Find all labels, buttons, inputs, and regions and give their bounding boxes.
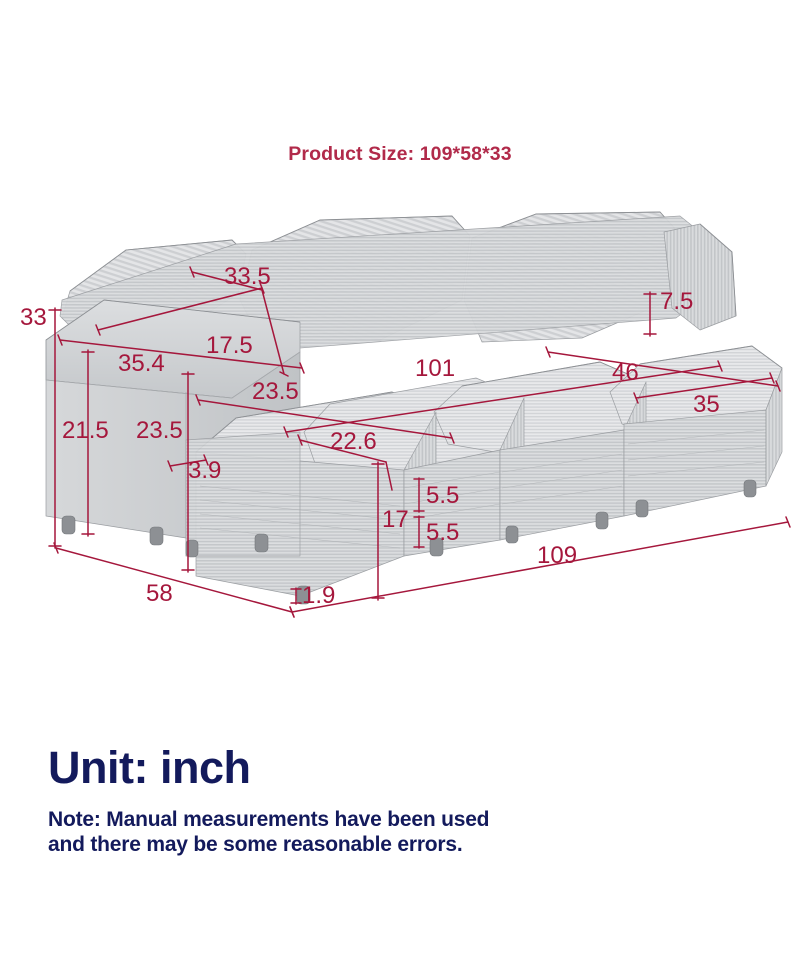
dim-seat-height: 17 <box>382 508 409 532</box>
dim-seat-cushion-depth: 22.6 <box>330 430 377 454</box>
base-module-left-inner <box>186 432 300 556</box>
diagram-page: Product Size: 109*58*33 <box>0 0 800 977</box>
dim-arm-depth: 35.4 <box>118 352 165 376</box>
measurement-note-line1: Note: Manual measurements have been used <box>48 808 748 833</box>
dim-arm-height: 21.5 <box>62 419 109 443</box>
dim-overall-width: 109 <box>537 544 577 568</box>
dim-cushion-thickness-top: 5.5 <box>426 484 459 508</box>
dim-arm-top-thickness: 7.5 <box>660 290 693 314</box>
measurement-note-line2: and there may be some reasonable errors. <box>48 833 748 858</box>
dim-cushion-thickness-bottom: 5.5 <box>426 521 459 545</box>
measurement-note: Note: Manual measurements have been used… <box>48 808 748 857</box>
dim-seat-depth-left: 23.5 <box>136 419 183 443</box>
dim-chaise-width: 35 <box>693 393 720 417</box>
unit-heading: Unit: inch <box>48 745 250 790</box>
dim-arm-gap: 3.9 <box>188 459 221 483</box>
dim-seat-depth-upper: 23.5 <box>252 380 299 404</box>
dim-back-cushion-height: 17.5 <box>206 334 253 358</box>
dim-chaise-depth: 46 <box>612 361 639 385</box>
dim-overall-height: 33 <box>20 306 47 330</box>
dim-foot-height: 1.9 <box>302 584 335 608</box>
dim-overall-depth: 58 <box>146 582 173 606</box>
dim-back-cushion-width: 33.5 <box>224 265 271 289</box>
dim-seat-row-width: 101 <box>415 357 455 381</box>
